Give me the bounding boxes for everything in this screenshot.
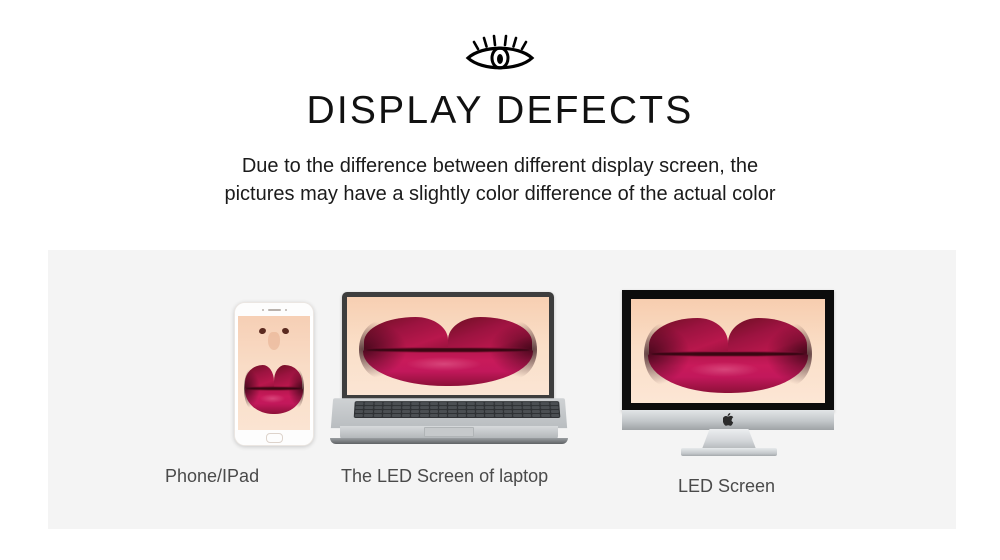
subtitle-line-2: pictures may have a slightly color diffe… <box>120 180 880 208</box>
caption-phone: Phone/IPad <box>165 466 259 487</box>
caption-monitor: LED Screen <box>678 476 775 497</box>
display-defects-page: DISPLAY DEFECTS Due to the difference be… <box>0 0 1000 560</box>
page-title: DISPLAY DEFECTS <box>0 88 1000 134</box>
caption-laptop: The LED Screen of laptop <box>341 466 548 487</box>
subtitle-line-1: Due to the difference between different … <box>120 152 880 180</box>
device-captions: Phone/IPad The LED Screen of laptop LED … <box>48 250 956 529</box>
page-subtitle: Due to the difference between different … <box>120 152 880 208</box>
eye-icon <box>0 32 1000 74</box>
